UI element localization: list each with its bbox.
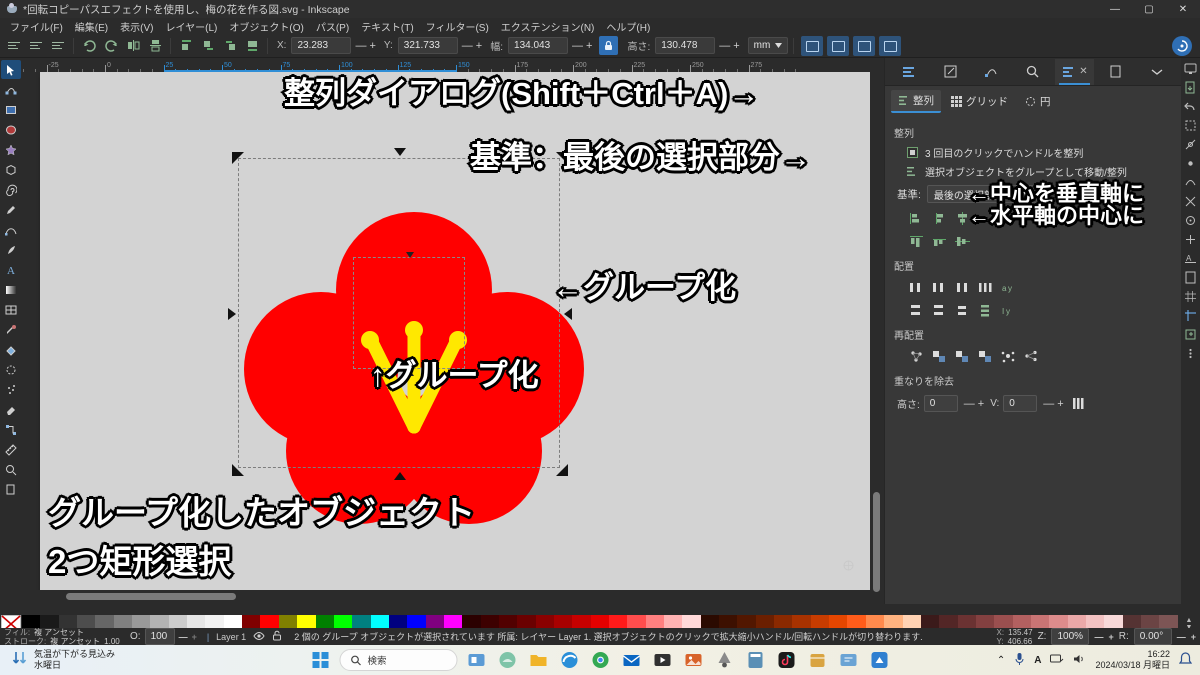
windows-logo-icon (313, 652, 329, 668)
divider (267, 38, 268, 54)
move-as-group-checkbox-row[interactable]: 選択オブジェクトをグループとして移動/整列 (893, 162, 1173, 181)
menu-item-edit[interactable]: 編集(E) (69, 19, 114, 34)
weather-title: 気温が下がる見込み (34, 649, 115, 660)
divider (73, 38, 74, 54)
subtab-grid[interactable]: グリッド (944, 91, 1015, 112)
rotation-minus[interactable]: — (1177, 632, 1186, 642)
tool-pencil[interactable] (1, 200, 21, 219)
tray-volume-icon[interactable] (1073, 653, 1086, 668)
grid-icon (951, 96, 962, 107)
remove-overlaps-row: 高さ: 0 —+ V: 0 —+ (893, 391, 1173, 416)
taskbar-app-store[interactable] (806, 648, 830, 672)
zoom-minus[interactable]: — (1094, 632, 1103, 642)
canvas-rotation-lock-icon[interactable] (843, 560, 854, 574)
layer-name: Layer 1 (216, 632, 246, 642)
svg-text:A: A (1186, 254, 1192, 263)
svg-text:I: I (1002, 307, 1004, 316)
snap-rotation-center-icon[interactable] (1183, 232, 1198, 247)
x-plus[interactable]: + (369, 40, 375, 52)
tray-ime-indicator[interactable]: A (1034, 655, 1041, 666)
snap-screen-icon[interactable] (1183, 61, 1198, 76)
width-plus[interactable]: + (586, 40, 592, 52)
undo-icon[interactable] (1183, 99, 1198, 114)
subtab-align[interactable]: 整列 (891, 90, 941, 113)
vertical-scrollbar[interactable] (870, 72, 884, 590)
align-section-title: 整列 (894, 125, 1173, 140)
overlap-v-plus[interactable]: + (1057, 398, 1063, 410)
snap-bbox-icon[interactable] (801, 36, 823, 56)
distribute-horizontal-row: ay (893, 276, 1173, 299)
deselect-icon[interactable] (48, 36, 68, 56)
chevron-down-icon (775, 43, 782, 48)
align-right-edge-to-left-anchor-icon[interactable] (907, 210, 925, 227)
tray-chevron-up-icon[interactable]: ⌃ (997, 655, 1005, 666)
width-label: 幅: (490, 38, 503, 53)
lower-to-bottom-icon[interactable] (242, 36, 262, 56)
taskbar-app-blue[interactable] (868, 648, 892, 672)
taskbar-app-mail[interactable] (620, 648, 644, 672)
align-icon (898, 95, 909, 106)
ruler-tick (573, 65, 574, 72)
layer-visibility-icon[interactable] (253, 631, 265, 643)
weather-widget[interactable]: 気温が下がる見込み 水曜日 (0, 649, 115, 671)
tool-spiral[interactable] (1, 180, 21, 199)
unit-select[interactable]: mm (748, 37, 789, 54)
subtab-circle-label: 円 (1040, 94, 1051, 109)
divider (170, 38, 171, 54)
snap-more-icon[interactable] (1183, 346, 1198, 361)
move-as-group-label: 選択オブジェクトをグループとして移動/整列 (925, 164, 1127, 179)
horizontal-scroll-thumb[interactable] (66, 593, 236, 600)
center-on-vertical-axis-icon[interactable] (953, 210, 971, 227)
dock-tab-overflow[interactable] (1138, 59, 1177, 85)
unit-value: mm (754, 40, 771, 51)
snap-node-icon[interactable] (1183, 156, 1198, 171)
taskbar-app-explorer[interactable] (527, 648, 551, 672)
align-handles-label: 3 回目のクリックでハンドルを整列 (925, 145, 1083, 160)
dock-tab-find[interactable] (1013, 59, 1052, 85)
snap-text-baseline-icon[interactable]: A (1183, 251, 1198, 266)
opacity-plus[interactable]: + (192, 632, 197, 642)
taskbar-app-photos[interactable] (682, 648, 706, 672)
ruler-label: 50 (224, 62, 232, 69)
remove-overlaps-apply-icon[interactable] (1070, 395, 1088, 412)
fill-value: 複 アンセット (34, 628, 84, 637)
lower-icon[interactable] (220, 36, 240, 56)
divider (793, 38, 794, 54)
window-title: *回転コピーパスエフェクトを使用し、梅の花を作る図.svg - Inkscape (23, 2, 350, 17)
tool-ellipse[interactable] (1, 120, 21, 139)
menu-item-object[interactable]: オブジェクト(O) (223, 19, 309, 34)
svg-text:A: A (7, 265, 15, 276)
distribute-text-anchors-horizontal-icon[interactable]: ay (999, 279, 1017, 296)
overlap-v-minus[interactable]: — (1043, 398, 1054, 410)
overlap-h-stepper[interactable]: —+ (964, 398, 984, 410)
menu-item-layer[interactable]: レイヤー(L) (159, 19, 223, 34)
distribute-bottom-edges-icon[interactable] (953, 302, 971, 319)
dock-tab-align-distribute[interactable]: ✕ (1055, 59, 1094, 85)
windows-taskbar: 気温が下がる見込み 水曜日 検索 (0, 645, 1200, 675)
tray-time: 16:22 (1095, 649, 1170, 660)
open-document-icon[interactable] (1183, 327, 1198, 342)
tray-network-icon[interactable] (1050, 653, 1064, 668)
vertical-ruler[interactable] (22, 72, 36, 590)
tool-eraser[interactable] (1, 400, 21, 419)
ruler-tick (749, 65, 750, 72)
raise-to-top-icon[interactable] (176, 36, 196, 56)
subtab-grid-label: グリッド (966, 94, 1008, 109)
center-on-horizontal-axis-icon[interactable] (953, 233, 971, 250)
snap-intersection-icon[interactable] (1183, 194, 1198, 209)
tray-microphone-icon[interactable] (1014, 652, 1025, 669)
flip-horizontal-icon[interactable] (123, 36, 143, 56)
distribute-equal-gaps-vertical-icon[interactable] (976, 302, 994, 319)
ruler-label: -25 (49, 62, 59, 69)
align-left-edges-icon[interactable] (930, 210, 948, 227)
overlap-h-input[interactable]: 0 (924, 395, 958, 412)
taskbar-app-calculator[interactable] (744, 648, 768, 672)
svg-text:y: y (1008, 284, 1012, 293)
align-panel-subtabs: 整列 グリッド 円 (885, 86, 1181, 116)
tool-mesh[interactable] (1, 300, 21, 319)
tool-text[interactable]: A (1, 260, 21, 279)
taskbar-app-chrome[interactable] (589, 648, 613, 672)
x-minus[interactable]: — (355, 40, 366, 52)
lock-aspect-ratio-icon[interactable] (599, 36, 618, 55)
distribute-text-baselines-icon[interactable]: Iy (999, 302, 1017, 319)
menu-item-help[interactable]: ヘルプ(H) (600, 19, 656, 34)
snap-path-icon[interactable] (1183, 175, 1198, 190)
select-all-icon[interactable] (4, 36, 24, 56)
snap-grid-icon[interactable] (1183, 289, 1198, 304)
dock-tab-path-effects[interactable] (972, 59, 1011, 85)
inkscape-window: *回転コピーパスエフェクトを使用し、梅の花を作る図.svg - Inkscape… (0, 0, 1200, 675)
layer-lock-icon[interactable] (272, 630, 282, 643)
status-bar: フィル:複 アンセット ストローク:複 アンセット1.00 O: 100 — +… (0, 628, 1200, 645)
maximize-button[interactable]: ▢ (1132, 0, 1166, 18)
taskbar-app-edge[interactable] (558, 648, 582, 672)
overlap-h-label: 高さ: (897, 396, 920, 411)
window-controls: — ▢ ✕ (1098, 0, 1200, 18)
dock-tab-close-icon[interactable]: ✕ (1079, 66, 1087, 77)
palette-up-arrow[interactable]: ▲ (1186, 617, 1193, 624)
menu-item-text[interactable]: テキスト(T) (355, 19, 419, 34)
ruler-label: 200 (575, 62, 587, 69)
menu-item-path[interactable]: パス(P) (310, 19, 355, 34)
ruler-label: 250 (692, 62, 704, 69)
rotate-ccw-icon[interactable] (79, 36, 99, 56)
snap-page-border-icon[interactable] (1183, 270, 1198, 285)
chevron-down-icon (1023, 192, 1030, 197)
snap-bbox2-icon[interactable] (1183, 118, 1198, 133)
fill-stroke-indicator[interactable]: フィル:複 アンセット ストローク:複 アンセット1.00 (4, 628, 122, 646)
rotation-input[interactable]: 0.00° (1134, 628, 1172, 645)
tray-date: 2024/03/18 月曜日 (1095, 660, 1170, 671)
snap-distribution-icon[interactable] (879, 36, 901, 56)
width-minus[interactable]: — (572, 40, 583, 52)
menu-item-file[interactable]: ファイル(F) (4, 19, 69, 34)
overlap-v-label: V: (990, 398, 999, 409)
ruler-label: 25 (166, 62, 174, 69)
overlap-v-stepper[interactable]: —+ (1043, 398, 1063, 410)
zoom-input[interactable]: 100% (1051, 628, 1089, 645)
align-vertical-row (893, 230, 1173, 253)
status-message: 2 個の グループ オブジェクトが選択されています 所属: レイヤー Layer… (294, 630, 992, 643)
system-tray: ⌃ A 16:22 2024/03/18 月曜日 (997, 649, 1192, 671)
remove-overlaps-section-title: 重なりを除去 (894, 373, 1173, 388)
tool-pages[interactable] (1, 480, 21, 499)
width-stepper[interactable]: — + (572, 40, 592, 52)
ruler-label: 225 (634, 62, 646, 69)
relative-to-value: 最後の選択部分 (934, 187, 1004, 202)
y-input[interactable]: 321.733 (398, 37, 458, 54)
tool-gradient[interactable] (1, 280, 21, 299)
align-bottom-edge-to-top-anchor-icon[interactable] (907, 233, 925, 250)
raise-icon[interactable] (198, 36, 218, 56)
tool-selector[interactable] (1, 60, 21, 79)
distribute-left-edges-icon[interactable] (907, 279, 925, 296)
ruler-label: 275 (751, 62, 763, 69)
height-plus[interactable]: + (733, 40, 739, 52)
rotation-label: R: (1119, 631, 1129, 642)
overlap-h-plus[interactable]: + (978, 398, 984, 410)
randomize-positions-icon[interactable] (999, 348, 1017, 365)
taskbar-app-inkscape[interactable] (713, 648, 737, 672)
snap-node-icon[interactable] (827, 36, 849, 56)
snap-center-icon[interactable] (1183, 213, 1198, 228)
tool-calligraphy[interactable] (1, 240, 21, 259)
exchange-selection-order-icon[interactable] (930, 348, 948, 365)
graph-layout-icon[interactable] (907, 348, 925, 365)
taskbar-app-widgets[interactable] (496, 648, 520, 672)
ruler-tick (456, 65, 457, 72)
taskbar-search[interactable]: 検索 (340, 649, 458, 671)
snap-toggle-icon[interactable] (1172, 36, 1192, 56)
relative-to-row: 基準: 最後の選択部分 (893, 181, 1173, 207)
tool-bezier[interactable] (1, 220, 21, 239)
x-label: X: (277, 40, 286, 51)
subtab-align-label: 整列 (913, 93, 934, 108)
dock-tab-strip: ✕ (885, 58, 1181, 86)
distribute-equal-gaps-horizontal-icon[interactable] (976, 279, 994, 296)
tool-rectangle[interactable] (1, 100, 21, 119)
select-all-layers-icon[interactable] (26, 36, 46, 56)
height-stepper[interactable]: — + (719, 40, 739, 52)
svg-text:y: y (1006, 307, 1010, 316)
taskbar-center: 検索 (309, 648, 892, 672)
fill-label: フィル: (4, 628, 30, 637)
inkscape-app-icon (6, 3, 18, 15)
overlap-h-minus[interactable]: — (964, 398, 975, 410)
search-placeholder: 検索 (368, 653, 387, 667)
menu-item-view[interactable]: 表示(V) (114, 19, 159, 34)
drawing-canvas[interactable] (36, 72, 870, 590)
tool-connector[interactable] (1, 420, 21, 439)
opacity-label: O: (130, 631, 141, 642)
rotate-cw-icon[interactable] (101, 36, 121, 56)
snap-alignment-icon[interactable] (853, 36, 875, 56)
flip-vertical-icon[interactable] (145, 36, 165, 56)
layer-indicator[interactable]: | Layer 1 (207, 630, 282, 643)
distribute-right-edges-icon[interactable] (953, 279, 971, 296)
ruler-label: 125 (400, 62, 412, 69)
pointer-x-value: 135.47 (1008, 628, 1032, 637)
tool-spray[interactable] (1, 380, 21, 399)
search-icon (351, 655, 362, 666)
rotation-plus[interactable]: + (1191, 632, 1196, 642)
tray-clock[interactable]: 16:22 2024/03/18 月曜日 (1095, 649, 1170, 671)
y-label: Y: (384, 40, 393, 51)
canvas-area: -50-250255075100125150175200225250275 (22, 58, 884, 604)
ruler-label: 100 (341, 62, 353, 69)
taskbar-app-explorer2[interactable] (837, 648, 861, 672)
subtab-circle[interactable]: 円 (1018, 91, 1058, 112)
height-input[interactable]: 130.478 (655, 37, 715, 54)
main-area: A (0, 58, 1200, 604)
ruler-label: 0 (107, 62, 111, 69)
taskbar-app-tiktok[interactable] (775, 648, 799, 672)
opacity-minus[interactable]: — (179, 632, 188, 642)
circle-arrange-icon (1025, 96, 1036, 107)
minimize-button[interactable]: — (1098, 0, 1132, 18)
height-minus[interactable]: — (719, 40, 730, 52)
menu-item-extensions[interactable]: エクステンション(N) (495, 19, 601, 34)
tool-node-editor[interactable] (1, 80, 21, 99)
right-dock: ✕ 整列 グリッド (884, 58, 1181, 604)
exchange-selection-order-zorder-icon[interactable] (953, 348, 971, 365)
title-bar: *回転コピーパスエフェクトを使用し、梅の花を作る図.svg - Inkscape… (0, 0, 1200, 18)
y-minus[interactable]: — (462, 40, 473, 52)
dock-tab-objects[interactable] (889, 59, 928, 85)
align-panel-body: 整列 3 回目のクリックでハンドルを整列 選択オブジェクトをグループとして移動/… (885, 116, 1181, 420)
inner-selection-handles[interactable] (348, 252, 472, 376)
horizontal-scrollbar[interactable] (36, 590, 870, 604)
align-horizontal-row (893, 207, 1173, 230)
tool-tweak[interactable] (1, 360, 21, 379)
tool-zoom[interactable] (1, 460, 21, 479)
tool-measure[interactable] (1, 440, 21, 459)
dock-tab-document-properties[interactable] (1096, 59, 1135, 85)
pointer-x-label: X: (997, 628, 1005, 637)
temperature-down-icon (12, 650, 28, 671)
x-stepper[interactable]: — + (355, 40, 375, 52)
ruler-tick (515, 65, 516, 72)
snap-toolbar: A (1181, 58, 1200, 604)
zoom-label: Z: (1038, 631, 1047, 642)
opacity-input[interactable]: 100 (145, 628, 175, 645)
taskbar-app-task-view[interactable] (465, 648, 489, 672)
y-plus[interactable]: + (476, 40, 482, 52)
tool-paintbucket[interactable] (1, 340, 21, 359)
ruler-label: 150 (458, 62, 470, 69)
relative-to-select[interactable]: 最後の選択部分 (927, 185, 1037, 203)
distribute-vertical-row: Iy (893, 299, 1173, 322)
weather-day: 水曜日 (34, 660, 115, 671)
taskbar-app-video[interactable] (651, 648, 675, 672)
vertical-scroll-thumb[interactable] (873, 492, 880, 592)
zoom-plus[interactable]: + (1108, 632, 1113, 642)
start-button[interactable] (309, 648, 333, 672)
relative-to-label: 基準: (897, 187, 921, 202)
menu-item-filter[interactable]: フィルター(S) (420, 19, 495, 34)
unclump-icon[interactable] (1022, 348, 1040, 365)
move-as-group-icon (907, 166, 918, 177)
dock-tab-xml-editor[interactable] (930, 59, 969, 85)
svg-text:a: a (1002, 284, 1007, 293)
menu-bar: ファイル(F) 編集(E) 表示(V) レイヤー(L) オブジェクト(O) パス… (0, 18, 1200, 34)
ruler-tick (105, 65, 106, 72)
ruler-tick (690, 65, 691, 72)
toolbox: A (0, 58, 22, 604)
weather-text: 気温が下がる見込み 水曜日 (34, 649, 115, 671)
tray-notification-icon[interactable] (1179, 652, 1192, 669)
ruler-tick (632, 65, 633, 72)
rearrange-section-title: 再配置 (894, 327, 1173, 342)
exchange-selection-clockwise-icon[interactable] (976, 348, 994, 365)
tool-star[interactable] (1, 140, 21, 159)
height-label: 高さ: (627, 38, 650, 53)
align-top-edges-icon[interactable] (930, 233, 948, 250)
pointer-coordinates: X:135.47 Y:406.66 (997, 628, 1033, 646)
ruler-label: 175 (517, 62, 529, 69)
ruler-label: 75 (283, 62, 291, 69)
snap-guides-icon[interactable] (1183, 308, 1198, 323)
coordinates-display: X:135.47 Y:406.66 Z: 100% — + R: 0.00° —… (997, 628, 1200, 646)
tool-dropper[interactable] (1, 320, 21, 339)
overlap-v-input[interactable]: 0 (1003, 395, 1037, 412)
snap-midpoint-icon[interactable] (1183, 137, 1198, 152)
tool-controls-bar: X: 23.283 — + Y: 321.733 — + 幅: 134.043 … (0, 34, 1200, 58)
horizontal-ruler[interactable]: -50-250255075100125150175200225250275 (22, 58, 870, 72)
opacity-control[interactable]: O: 100 — + (130, 628, 197, 645)
rearrange-row (893, 345, 1173, 368)
y-stepper[interactable]: — + (462, 40, 482, 52)
ruler-tick (47, 65, 48, 72)
x-input[interactable]: 23.283 (291, 37, 351, 54)
snap-export-icon[interactable] (1183, 80, 1198, 95)
width-input[interactable]: 134.043 (508, 37, 568, 54)
distribute-centers-horizontal-icon[interactable] (930, 279, 948, 296)
tool-3dbox[interactable] (1, 160, 21, 179)
distribute-top-edges-icon[interactable] (907, 302, 925, 319)
close-button[interactable]: ✕ (1166, 0, 1200, 18)
align-handles-checkbox[interactable] (907, 147, 918, 158)
distribute-centers-vertical-icon[interactable] (930, 302, 948, 319)
align-handles-checkbox-row[interactable]: 3 回目のクリックでハンドルを整列 (893, 143, 1173, 162)
distribute-section-title: 配置 (894, 258, 1173, 273)
